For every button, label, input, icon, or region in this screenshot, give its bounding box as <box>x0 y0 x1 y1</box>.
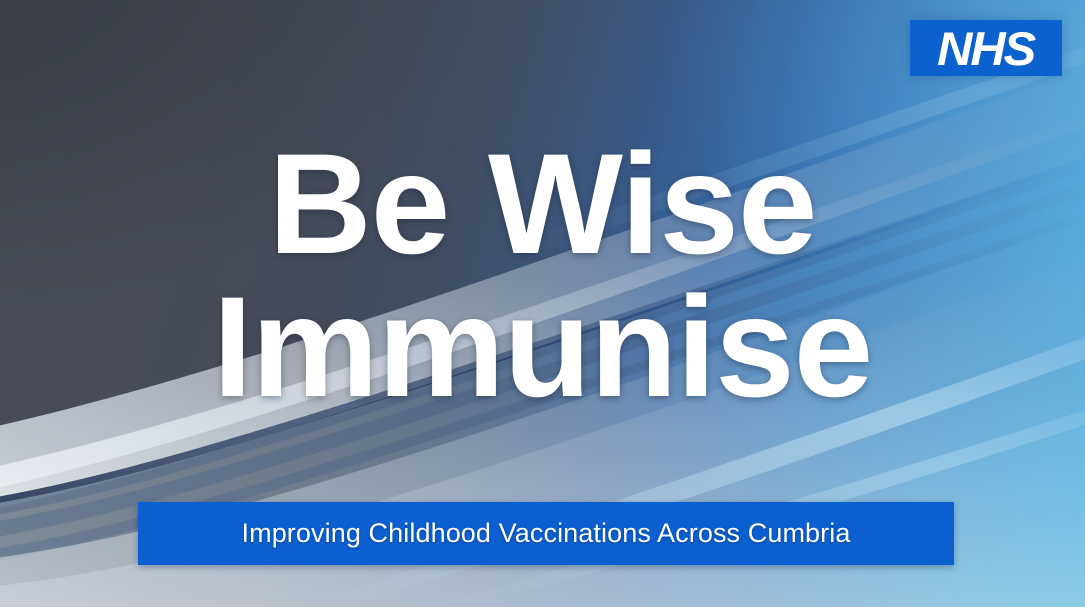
title-line-1: Be Wise <box>0 133 1085 276</box>
nhs-logo-text: NHS <box>938 25 1035 72</box>
title-line-2: Immunise <box>0 276 1085 419</box>
nhs-logo: NHS <box>910 20 1062 76</box>
slide-title: Be Wise Immunise <box>0 133 1085 419</box>
subtitle-banner: Improving Childhood Vaccinations Across … <box>138 502 954 565</box>
subtitle-text: Improving Childhood Vaccinations Across … <box>138 518 954 549</box>
slide-canvas: NHS Be Wise Immunise Improving Childhood… <box>0 0 1085 607</box>
